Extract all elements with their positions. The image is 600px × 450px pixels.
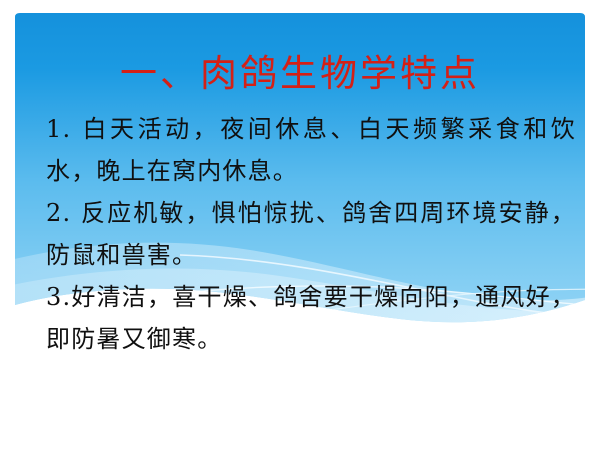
list-item: 1. 白天活动，夜间休息、白天频繁采食和饮水，晚上在窝内休息。 bbox=[46, 108, 576, 192]
presentation-slide: 一、肉鸽生物学特点 1. 白天活动，夜间休息、白天频繁采食和饮水，晚上在窝内休息… bbox=[0, 0, 600, 450]
list-item: 3.好清洁，喜干燥、鸽舍要干燥向阳，通风好，即防暑又御寒。 bbox=[46, 276, 576, 360]
page-title: 一、肉鸽生物学特点 bbox=[15, 51, 585, 97]
slide-content: 一、肉鸽生物学特点 1. 白天活动，夜间休息、白天频繁采食和饮水，晚上在窝内休息… bbox=[0, 0, 600, 450]
list-item: 2. 反应机敏，惧怕惊扰、鸽舍四周环境安静，防鼠和兽害。 bbox=[46, 192, 576, 276]
body-text-list: 1. 白天活动，夜间休息、白天频繁采食和饮水，晚上在窝内休息。 2. 反应机敏，… bbox=[46, 108, 576, 360]
